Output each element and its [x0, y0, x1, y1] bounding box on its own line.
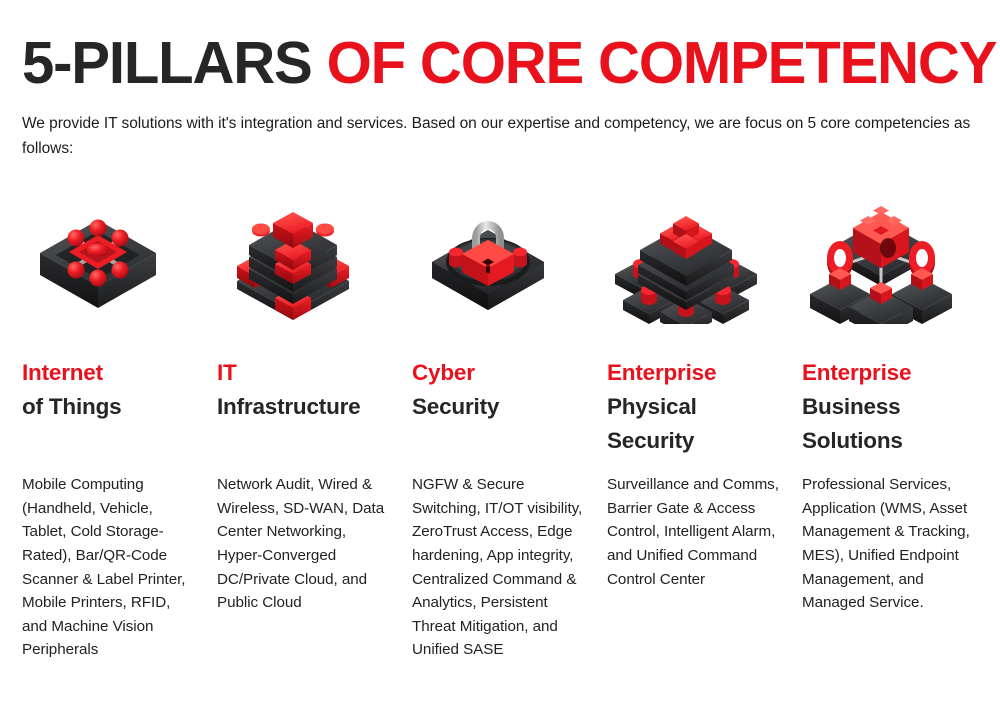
pillar-card-cyber-security: Cyber Security NGFW & Secure Switching, …: [412, 196, 607, 459]
pillar-card-it-infrastructure: IT Infrastructure Network Audit, Wired &…: [217, 196, 412, 459]
pillar-heading-dark-2: Security: [607, 424, 802, 458]
it-infrastructure-icon: [217, 196, 412, 324]
pillar-body-internet-of-things: Mobile Computing (Handheld, Vehicle, Tab…: [22, 473, 198, 662]
cyber-security-icon: [412, 196, 607, 324]
pillar-heading-red: IT: [217, 356, 412, 390]
pillar-heading-red: Enterprise: [607, 356, 802, 390]
slide-root: 5-PILLARS OF CORE COMPETENCY We provide …: [0, 0, 1000, 724]
pillars-row: Internet of Things Mobile Computing (Han…: [22, 196, 980, 459]
pillar-heading-enterprise-physical-security: Enterprise Physical Security: [607, 356, 802, 459]
header: 5-PILLARS OF CORE COMPETENCY We provide …: [22, 34, 982, 161]
pillar-heading-red: Cyber: [412, 356, 607, 390]
internet-of-things-icon: [22, 196, 217, 324]
page-subtitle: We provide IT solutions with it's integr…: [22, 111, 972, 161]
page-title: 5-PILLARS OF CORE COMPETENCY: [22, 34, 968, 93]
page-title-dark-part: 5-PILLARS: [22, 30, 327, 96]
pillar-heading-dark: Security: [412, 390, 607, 424]
pillar-card-internet-of-things: Internet of Things Mobile Computing (Han…: [22, 196, 217, 459]
pillar-body-cyber-security: NGFW & Secure Switching, IT/OT visibilit…: [412, 473, 588, 662]
pillar-heading-internet-of-things: Internet of Things: [22, 356, 217, 424]
pillar-body-enterprise-business-solutions: Professional Services, Application (WMS,…: [802, 473, 978, 615]
pillar-card-enterprise-business-solutions: Enterprise Business Solutions Profession…: [802, 196, 980, 459]
pillar-heading-red: Enterprise: [802, 356, 980, 390]
pillar-heading-cyber-security: Cyber Security: [412, 356, 607, 424]
pillar-heading-dark: of Things: [22, 390, 217, 424]
pillar-heading-dark: Physical: [607, 390, 802, 424]
enterprise-business-solutions-icon: [802, 196, 980, 324]
enterprise-physical-security-icon: [607, 196, 802, 324]
pillar-card-enterprise-physical-security: Enterprise Physical Security Surveillanc…: [607, 196, 802, 459]
pillar-heading-enterprise-business-solutions: Enterprise Business Solutions: [802, 356, 980, 459]
pillar-body-it-infrastructure: Network Audit, Wired & Wireless, SD-WAN,…: [217, 473, 393, 615]
pillar-heading-red: Internet: [22, 356, 217, 390]
pillar-heading-it-infrastructure: IT Infrastructure: [217, 356, 412, 424]
pillar-body-enterprise-physical-security: Surveillance and Comms, Barrier Gate & A…: [607, 473, 783, 591]
pillar-heading-dark: Infrastructure: [217, 390, 412, 424]
page-title-red-part: OF CORE COMPETENCY: [327, 30, 997, 96]
pillar-heading-dark-2: Solutions: [802, 424, 980, 458]
pillar-heading-dark: Business: [802, 390, 980, 424]
